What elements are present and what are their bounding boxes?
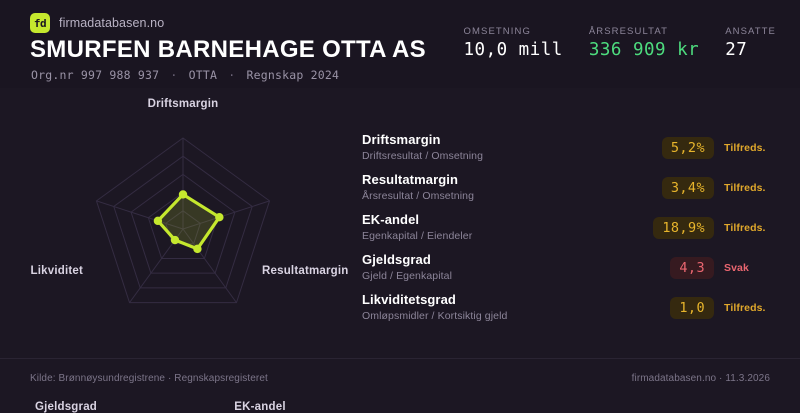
radar-point xyxy=(215,213,223,221)
radar-label-driftsmargin: Driftsmargin xyxy=(148,98,219,110)
table-row: Likviditetsgrad Omløpsmidler / Kortsikti… xyxy=(362,288,782,328)
meta-separator-2: · xyxy=(224,68,239,82)
metric-name: EK-andel xyxy=(362,212,637,228)
brand[interactable]: fd firmadatabasen.no xyxy=(30,13,164,33)
metric-value-pill: 5,2% xyxy=(662,137,714,160)
status-badge: Tilfreds. xyxy=(724,222,782,234)
orgnr: Org.nr 997 988 937 xyxy=(31,68,159,82)
kpi-omsetning-value: 10,0 mill xyxy=(464,42,563,60)
table-row: EK-andel Egenkapital / Eiendeler 18,9% T… xyxy=(362,208,782,248)
metric-name: Resultatmargin xyxy=(362,172,637,188)
radar-chart-svg xyxy=(0,88,366,348)
metric-text: Resultatmargin Årsresultat / Omsetning xyxy=(362,172,637,204)
radar-chart: Driftsmargin Resultatmargin Likviditet G… xyxy=(0,88,366,348)
metric-formula: Egenkapital / Eiendeler xyxy=(362,230,637,244)
metric-name: Gjeldsgrad xyxy=(362,252,637,268)
place: OTTA xyxy=(189,68,218,82)
metric-value-pill: 4,3 xyxy=(670,257,714,280)
metric-formula: Årsresultat / Omsetning xyxy=(362,190,637,204)
kpi-arsresultat: ÅRSRESULTAT 336 909 kr xyxy=(563,26,699,60)
meta-separator-1: · xyxy=(166,68,181,82)
radar-label-resultatmargin: Resultatmargin xyxy=(262,265,349,277)
radar-label-ek-andel: EK-andel xyxy=(234,401,285,413)
metric-value-group: 5,2% Tilfreds. xyxy=(637,137,782,160)
metric-name: Likviditetsgrad xyxy=(362,292,637,308)
metric-text: EK-andel Egenkapital / Eiendeler xyxy=(362,212,637,244)
kpi-ansatte-value: 27 xyxy=(725,42,747,60)
metric-value-group: 3,4% Tilfreds. xyxy=(637,177,782,200)
kpi-group: OMSETNING 10,0 mill ÅRSRESULTAT 336 909 … xyxy=(438,26,777,60)
kpi-omsetning-label: OMSETNING xyxy=(464,26,531,37)
radar-label-likviditet: Likviditet xyxy=(31,265,83,277)
metric-text: Likviditetsgrad Omløpsmidler / Kortsikti… xyxy=(362,292,637,324)
radar-point xyxy=(193,245,201,253)
kpi-arsresultat-label: ÅRSRESULTAT xyxy=(589,26,668,37)
kpi-omsetning: OMSETNING 10,0 mill xyxy=(438,26,563,60)
metric-formula: Gjeld / Egenkapital xyxy=(362,270,637,284)
metric-value-pill: 1,0 xyxy=(670,297,714,320)
metric-text: Gjeldsgrad Gjeld / Egenkapital xyxy=(362,252,637,284)
metric-formula: Omløpsmidler / Kortsiktig gjeld xyxy=(362,310,637,324)
page-title: SMURFEN BARNEHAGE OTTA AS xyxy=(30,36,426,64)
status-badge: Tilfreds. xyxy=(724,302,782,314)
company-financial-summary-card: fd firmadatabasen.no SMURFEN BARNEHAGE O… xyxy=(0,0,800,400)
footer-stamp: firmadatabasen.no · 11.3.2026 xyxy=(632,373,770,384)
kpi-arsresultat-value: 336 909 kr xyxy=(589,42,699,60)
firmadatabasen-logo-icon: fd xyxy=(30,13,50,33)
radar-point xyxy=(179,190,187,198)
status-badge: Svak xyxy=(724,262,782,274)
metric-value-group: 4,3 Svak xyxy=(637,257,782,280)
radar-point xyxy=(171,236,179,244)
status-badge: Tilfreds. xyxy=(724,142,782,154)
metric-value-pill: 18,9% xyxy=(653,217,714,240)
metric-value-group: 1,0 Tilfreds. xyxy=(637,297,782,320)
brand-name: firmadatabasen.no xyxy=(59,16,164,30)
table-row: Resultatmargin Årsresultat / Omsetning 3… xyxy=(362,168,782,208)
metric-value-pill: 3,4% xyxy=(662,177,714,200)
metric-formula: Driftsresultat / Omsetning xyxy=(362,150,637,164)
footer-source: Kilde: Brønnøysundregistrene · Regnskaps… xyxy=(30,373,268,384)
metrics-list: Driftsmargin Driftsresultat / Omsetning … xyxy=(362,128,782,328)
header: fd firmadatabasen.no SMURFEN BARNEHAGE O… xyxy=(0,0,800,88)
metric-value-group: 18,9% Tilfreds. xyxy=(637,217,782,240)
kpi-ansatte: ANSATTE 27 xyxy=(699,26,776,60)
table-row: Driftsmargin Driftsresultat / Omsetning … xyxy=(362,128,782,168)
accounting-year: Regnskap 2024 xyxy=(246,68,339,82)
status-badge: Tilfreds. xyxy=(724,182,782,194)
company-meta: Org.nr 997 988 937 · OTTA · Regnskap 202… xyxy=(31,68,339,82)
table-row: Gjeldsgrad Gjeld / Egenkapital 4,3 Svak xyxy=(362,248,782,288)
metric-name: Driftsmargin xyxy=(362,132,637,148)
kpi-ansatte-label: ANSATTE xyxy=(725,26,776,37)
metric-text: Driftsmargin Driftsresultat / Omsetning xyxy=(362,132,637,164)
footer: Kilde: Brønnøysundregistrene · Regnskaps… xyxy=(0,358,800,400)
radar-label-gjeldsgrad: Gjeldsgrad xyxy=(35,401,97,413)
radar-point xyxy=(154,217,162,225)
